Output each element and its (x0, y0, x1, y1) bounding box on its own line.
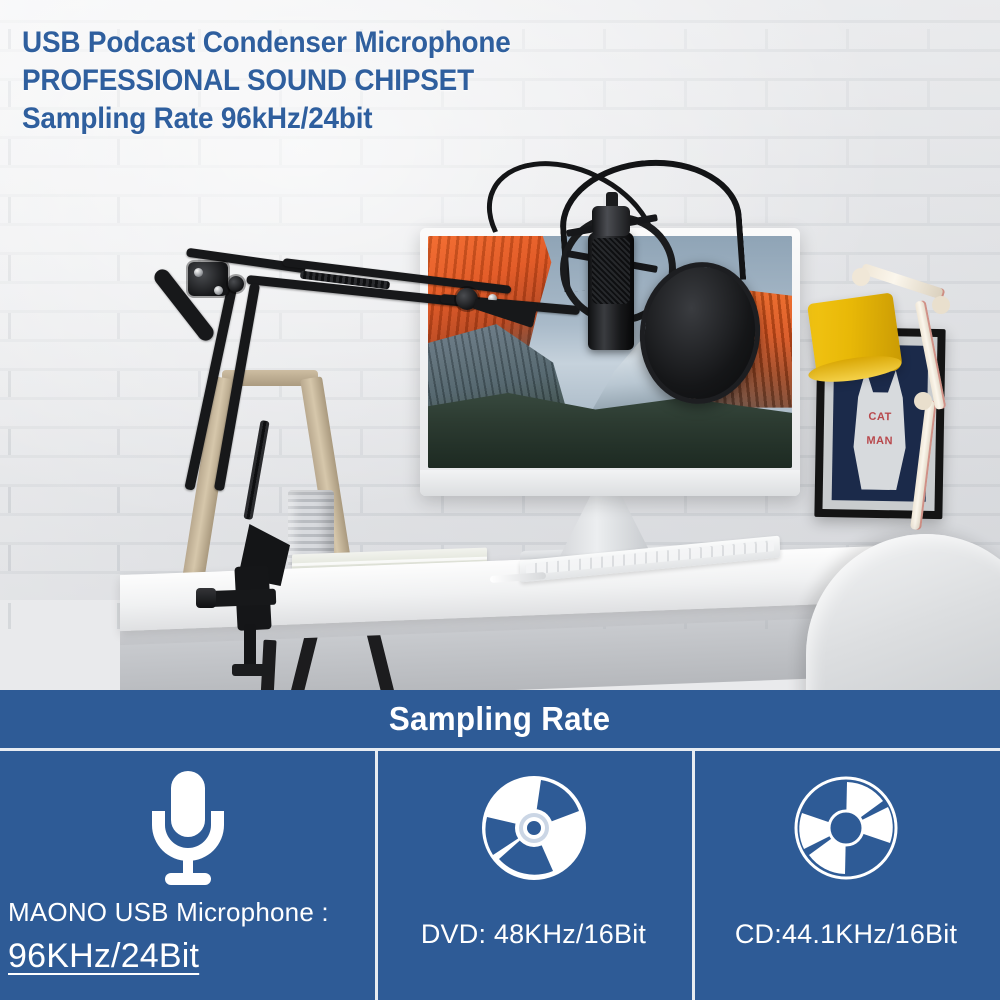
title-line-1: USB Podcast Condenser Microphone (22, 24, 692, 62)
dvd-disc-icon (375, 765, 692, 891)
product-marketing-image: CAT MAN (0, 0, 1000, 1000)
title-line-2: PROFESSIONAL SOUND CHIPSET (22, 62, 692, 100)
sampling-rate-comparison: MAONO USB Microphone : 96KHz/24Bit DVD: … (0, 751, 1000, 1000)
boom-arm-pivot (228, 276, 244, 292)
page-title: USB Podcast Condenser Microphone PROFESS… (22, 24, 742, 138)
lamp-joint-head (852, 268, 870, 286)
panel-dvd: DVD: 48KHz/16Bit (375, 751, 692, 1000)
cat-silhouette (848, 369, 912, 495)
title-line-3: Sampling Rate 96kHz/24bit (22, 100, 692, 138)
boom-arm-screw-2 (214, 286, 223, 295)
panel-cd: CD:44.1KHz/16Bit (692, 751, 1000, 1000)
desk-clamp-pad (232, 664, 270, 676)
panel-maono-microphone: MAONO USB Microphone : 96KHz/24Bit (0, 751, 375, 1000)
lamp-joint-lower (914, 392, 932, 410)
panel-2-label: DVD: 48KHz/16Bit (375, 919, 692, 950)
microphone-icon (0, 765, 375, 891)
boom-arm-screw-1 (194, 268, 203, 277)
banner-title: Sampling Rate (389, 700, 610, 738)
poster-text-line2: MAN (833, 435, 927, 449)
lamp-joint-mid (932, 296, 950, 314)
monitor-chin (420, 470, 800, 496)
panel-3-label: CD:44.1KHz/16Bit (692, 919, 1000, 950)
panel-divider-1 (375, 751, 378, 1000)
sampling-rate-banner: Sampling Rate (0, 690, 1000, 748)
condenser-microphone-head (592, 206, 630, 236)
panel-divider-2 (692, 751, 695, 1000)
panel-1-label-line2: 96KHz/24Bit (8, 937, 199, 976)
panel-1-label-line1: MAONO USB Microphone : (8, 897, 329, 928)
desk-clamp-knob (196, 588, 216, 608)
cd-disc-icon (692, 765, 1000, 891)
product-photo: CAT MAN (0, 0, 1000, 690)
poster-text-line1: CAT (833, 410, 927, 424)
microphone-grille (592, 238, 630, 304)
